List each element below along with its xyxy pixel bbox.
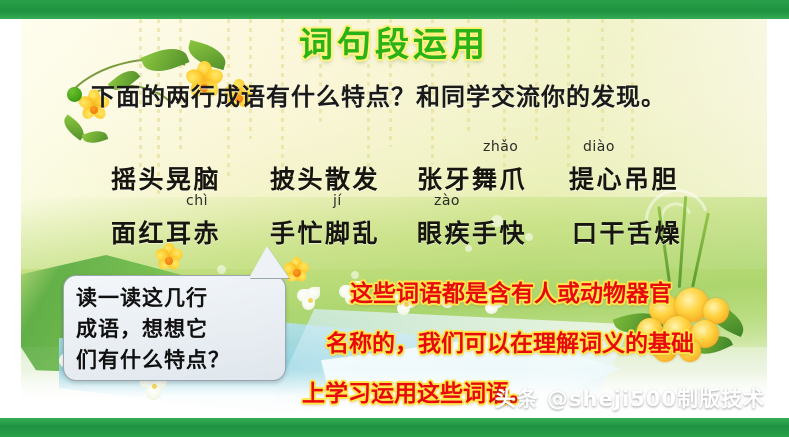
- bullet-dot-icon: [67, 87, 82, 102]
- bokeh-dot: [217, 265, 226, 274]
- answer-line: 这些词语都是含有人或动物器官: [350, 269, 750, 319]
- idiom-item: 披头散发: [270, 160, 380, 196]
- idiom-item: 眼疾手快: [417, 214, 527, 250]
- speech-bubble-line: 读一读这几行: [76, 282, 275, 313]
- slide-root: 词句段运用 下面的两行成语有什么特点？和同学交流你的发现。 zhǎo diào …: [0, 0, 789, 437]
- pinyin-label: chì: [186, 193, 208, 209]
- idiom-row: chì jí zào 面红耳赤 手忙脚乱 眼疾手快 口干舌燥: [21, 194, 767, 249]
- right-margin: [767, 19, 789, 418]
- idiom-row: zhǎo diào 摇头晃脑 披头散发 张牙舞爪 提心吊胆: [21, 139, 767, 194]
- idiom-item: 张牙舞爪: [417, 160, 527, 196]
- idiom-grid: zhǎo diào 摇头晃脑 披头散发 张牙舞爪 提心吊胆 chì jí zào…: [21, 139, 767, 249]
- question-text: 下面的两行成语有什么特点？和同学交流你的发现。: [91, 77, 666, 112]
- left-margin: [0, 19, 21, 418]
- pinyin-label: zào: [434, 193, 460, 209]
- speech-bubble: 读一读这几行 成语，想想它 们有什么特点？: [63, 275, 286, 381]
- page-title: 词句段运用: [21, 19, 767, 66]
- top-green-bar: [0, 0, 789, 19]
- watermark-text: 头条 @sheji500制版技术: [495, 383, 765, 413]
- idiom-item: 面红耳赤: [111, 214, 221, 250]
- speech-bubble-line: 们有什么特点？: [76, 344, 275, 375]
- speech-bubble-line: 成语，想想它: [76, 313, 275, 344]
- speech-bubble-tail: [249, 246, 289, 278]
- idiom-item: 摇头晃脑: [111, 160, 221, 196]
- bottom-green-bar: [0, 418, 789, 437]
- answer-line: 名称的，我们可以在理解词义的基础: [326, 319, 750, 369]
- speech-bubble-text: 读一读这几行 成语，想想它 们有什么特点？: [76, 282, 275, 375]
- slide-canvas: 词句段运用 下面的两行成语有什么特点？和同学交流你的发现。 zhǎo diào …: [21, 19, 767, 418]
- pinyin-label: jí: [333, 193, 342, 209]
- idiom-item: 手忙脚乱: [270, 214, 380, 250]
- pinyin-label: zhǎo: [483, 139, 518, 155]
- idiom-item: 口干舌燥: [572, 214, 682, 250]
- pinyin-label: diào: [583, 139, 615, 155]
- question-row: 下面的两行成语有什么特点？和同学交流你的发现。: [67, 77, 666, 112]
- idiom-item: 提心吊胆: [569, 160, 679, 196]
